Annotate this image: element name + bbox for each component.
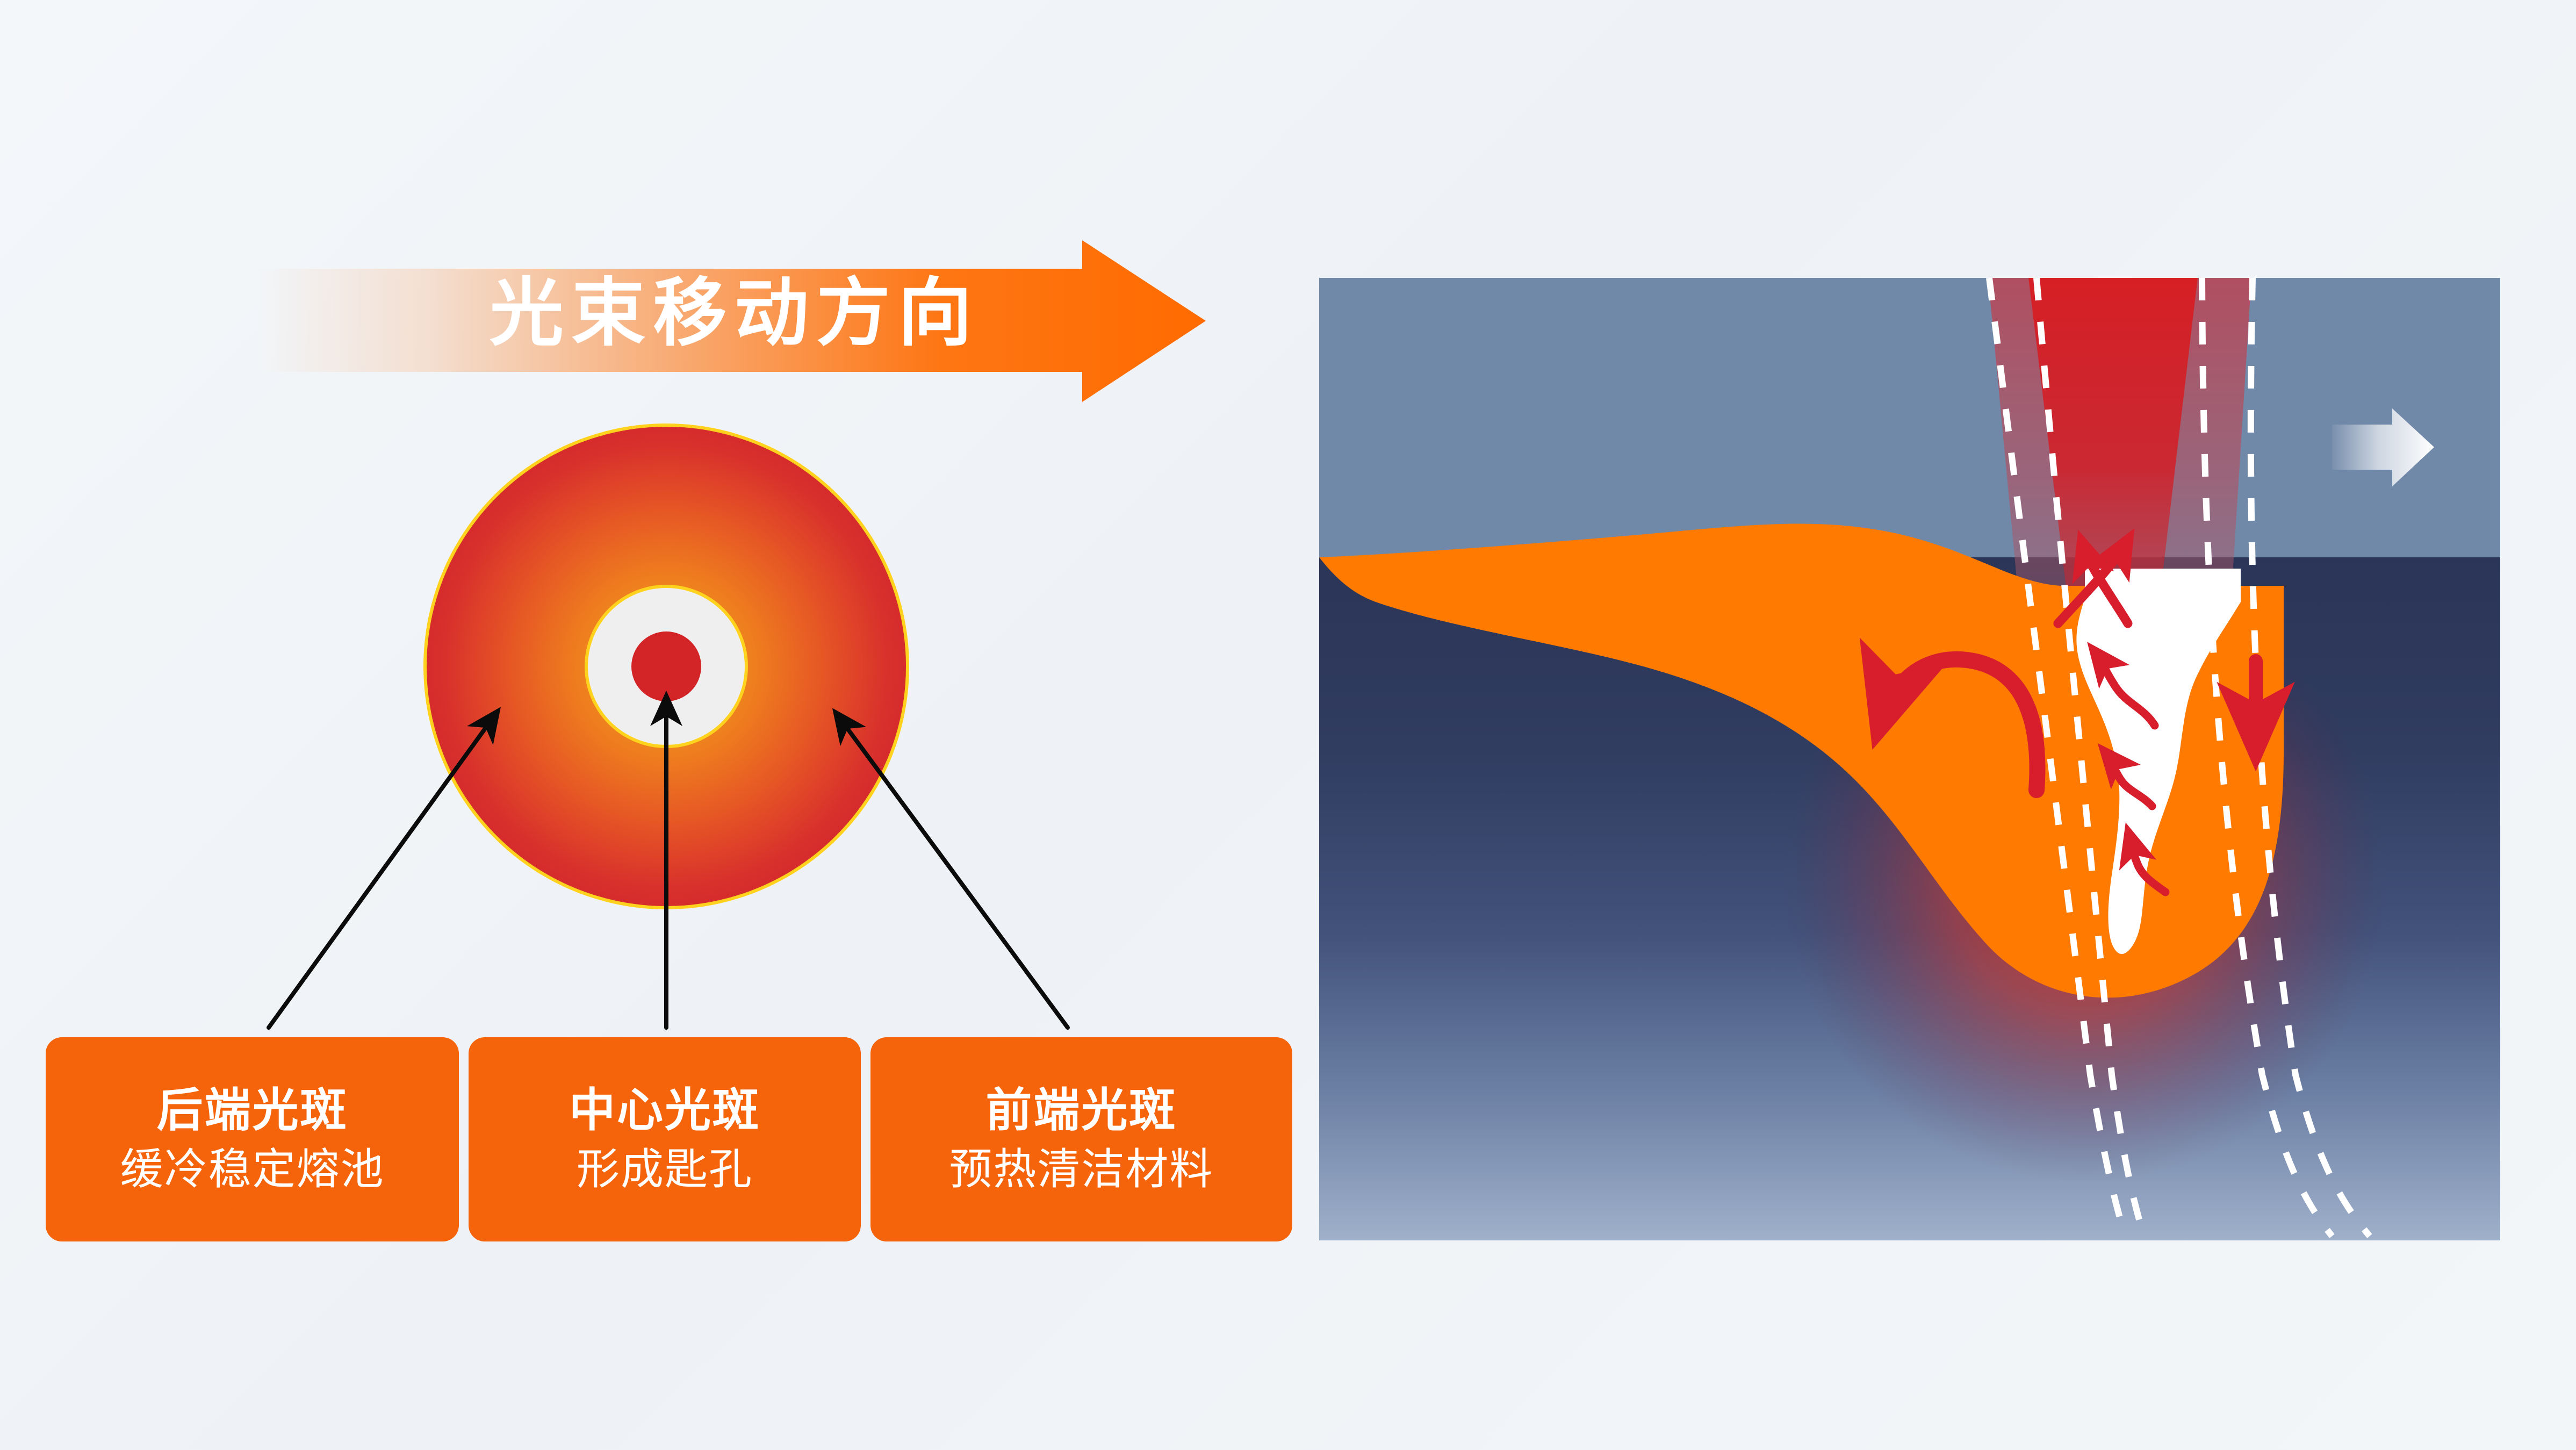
diagram-root: 光束移动方向 后端光斑 缓冷稳定熔池 中心光斑 形成匙孔 前端光斑 预热清洁材料 bbox=[0, 0, 2576, 1450]
atmosphere-region bbox=[1319, 278, 2500, 557]
cross-section-panel bbox=[1319, 278, 2500, 1240]
cross-section-layer bbox=[0, 0, 2576, 1450]
